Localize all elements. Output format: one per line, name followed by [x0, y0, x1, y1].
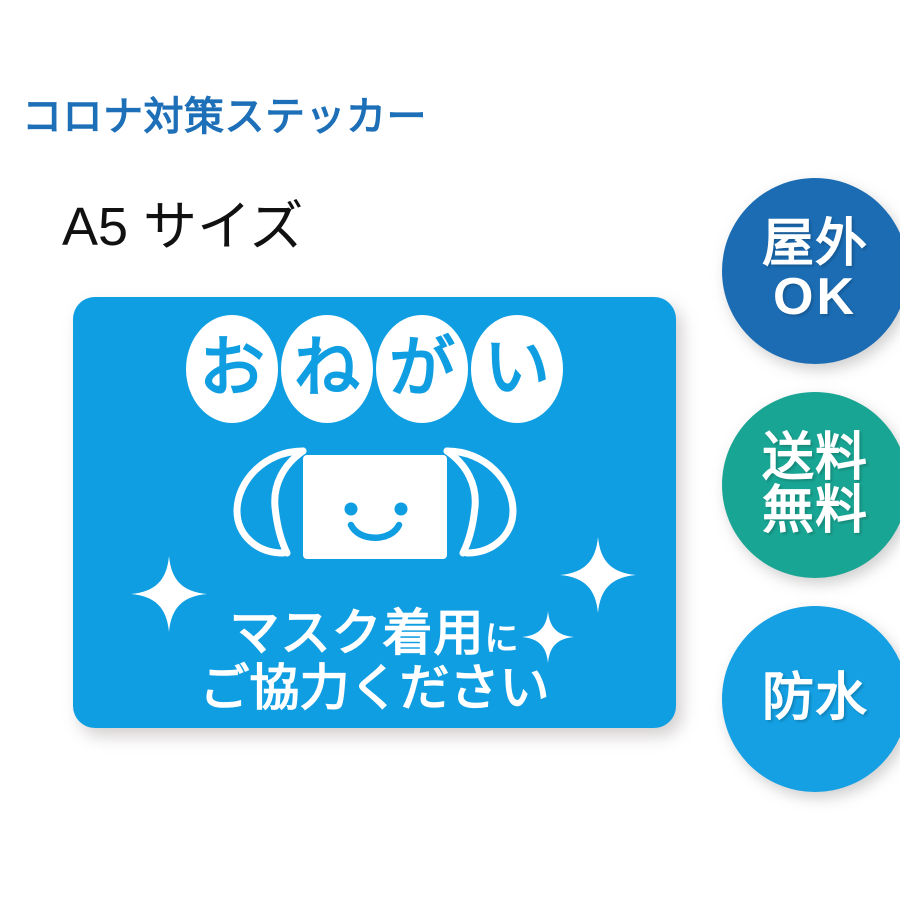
badge-outdoor: 屋外 OK	[722, 178, 900, 364]
badge-outdoor-line1: 屋外	[762, 218, 868, 271]
badge-shipping-line1: 送料	[762, 432, 868, 485]
sticker-message-line1-main: マスク着用	[230, 605, 485, 661]
sticker-message-line2: ご協力ください	[73, 663, 676, 714]
badge-waterproof: 防水	[722, 606, 900, 792]
sticker-artwork: お ね が い	[73, 297, 676, 728]
badge-shipping: 送料 無料	[722, 392, 900, 578]
bubble-char: ね	[281, 315, 373, 423]
bubble-char: お	[186, 315, 278, 423]
page-headline: コロナ対策ステッカー	[22, 97, 427, 137]
badge-outdoor-line2: OK	[773, 271, 857, 324]
bubble-char: が	[376, 315, 468, 423]
badge-waterproof-line1: 防水	[762, 672, 868, 725]
badge-shipping-line2: 無料	[762, 485, 868, 538]
sticker-message-line1: マスク着用に	[73, 608, 676, 659]
size-label: A5 サイズ	[62, 200, 303, 254]
sparkle-icon	[560, 537, 636, 613]
sticker-message: マスク着用に ご協力ください	[73, 608, 676, 714]
smiling-face-mask-icon	[225, 425, 525, 575]
product-image-canvas: コロナ対策ステッカー A5 サイズ お ね が い	[0, 0, 900, 900]
sticker-message-line1-small: に	[485, 620, 520, 658]
bubble-char: い	[471, 315, 563, 423]
bubble-word-onegai: お ね が い	[73, 315, 676, 423]
mask-illustration-area	[73, 425, 676, 575]
